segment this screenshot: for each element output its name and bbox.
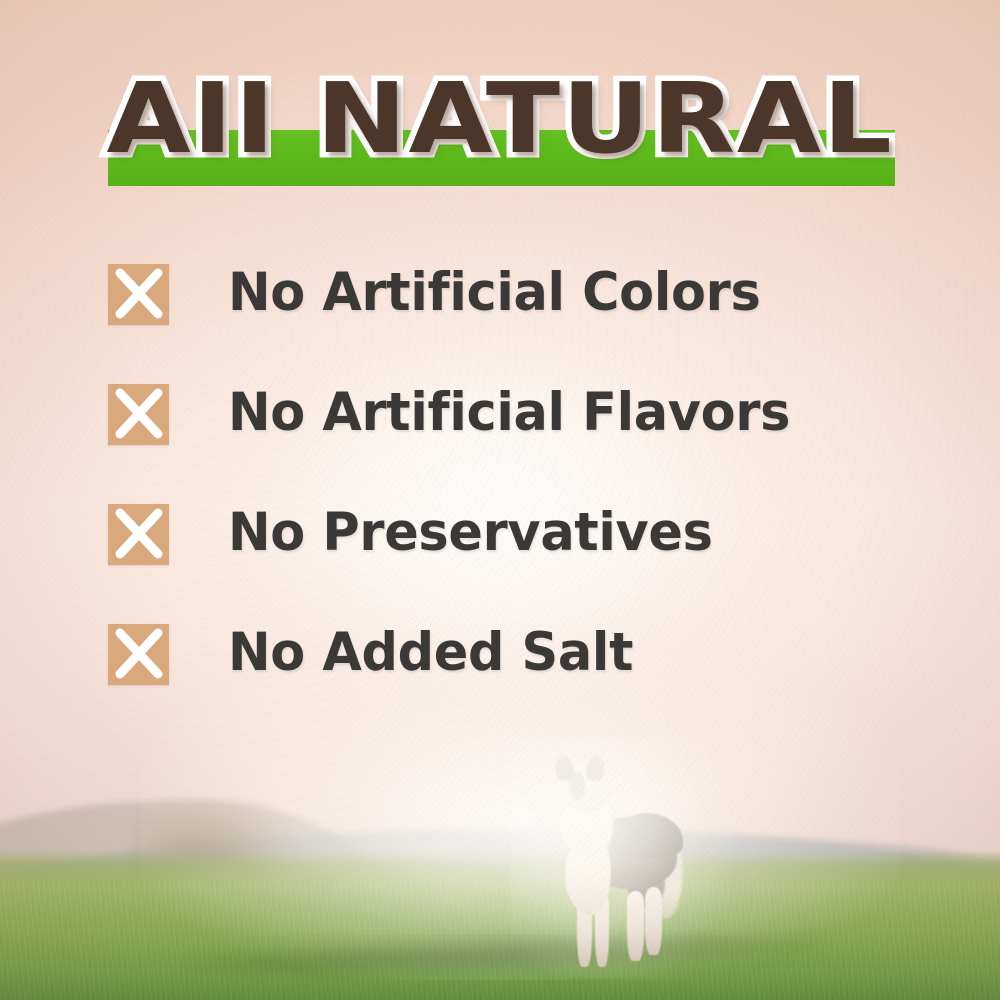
dog-leg-back-left — [627, 891, 644, 961]
claim-label: No Preservatives — [228, 499, 713, 567]
claim-label: No Added Salt — [228, 619, 633, 687]
claim-row: No Added Salt — [108, 622, 908, 742]
dog-back — [613, 813, 683, 859]
all-natural-feature-panel: AII NATURAL No Artificial Colors No Arti… — [0, 0, 1000, 1000]
dog-leg-back-right — [645, 887, 662, 955]
x-mark-icon — [108, 504, 169, 565]
claim-row: No Artificial Flavors — [108, 382, 908, 502]
x-mark-icon — [108, 624, 169, 685]
claim-label: No Artificial Flavors — [228, 379, 790, 447]
dog-ear-left — [552, 753, 575, 782]
headline-block: AII NATURAL — [0, 70, 1000, 195]
dog-figure — [535, 755, 705, 970]
claim-row: No Preservatives — [108, 502, 908, 622]
x-mark-icon — [108, 384, 169, 445]
claim-row: No Artificial Colors — [108, 262, 908, 382]
claims-list: No Artificial Colors No Artificial Flavo… — [108, 262, 908, 742]
claim-label: No Artificial Colors — [228, 259, 760, 327]
x-mark-icon — [108, 264, 169, 325]
headline-title: AII NATURAL — [0, 70, 1000, 167]
